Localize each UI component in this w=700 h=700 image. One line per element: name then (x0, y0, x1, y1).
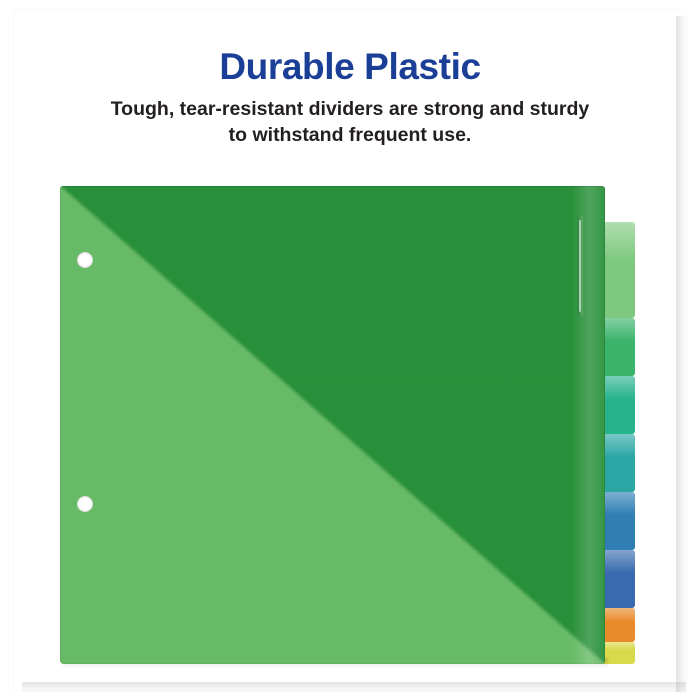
subtitle: Tough, tear-resistant dividers are stron… (50, 96, 650, 148)
divider-sheet (60, 186, 605, 664)
punch-hole-top (77, 252, 93, 268)
punch-hole-bottom (77, 496, 93, 512)
pocket-slit (579, 220, 581, 312)
product-feature-image: Durable Plastic Tough, tear-resistant di… (0, 0, 700, 700)
product-photo (60, 186, 635, 664)
card-shadow-right (676, 16, 688, 692)
page-title: Durable Plastic (0, 46, 700, 88)
sheet-upper-shade (60, 186, 605, 664)
subtitle-line-1: Tough, tear-resistant dividers are stron… (50, 96, 650, 122)
card-shadow-bottom (22, 682, 686, 694)
subtitle-line-2: to withstand frequent use. (50, 122, 650, 148)
